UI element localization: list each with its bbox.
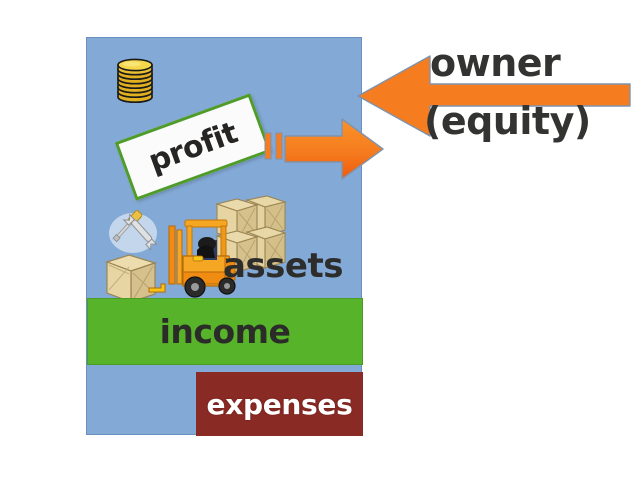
assets-label: assets <box>223 246 343 286</box>
equity-label: (equity) <box>424 102 591 140</box>
income-label: income <box>160 312 291 351</box>
profit-label: profit <box>144 115 242 179</box>
income-bar: income <box>87 298 363 365</box>
expenses-bar: expenses <box>196 372 363 436</box>
diagram-canvas: profit <box>0 0 640 480</box>
coin-stack-icon <box>112 56 158 104</box>
motion-dashes-icon <box>264 131 286 163</box>
profit-card: profit <box>115 93 272 201</box>
expenses-label: expenses <box>207 388 353 421</box>
balance-sheet-box: profit <box>86 37 362 435</box>
owner-label: owner <box>430 44 560 82</box>
